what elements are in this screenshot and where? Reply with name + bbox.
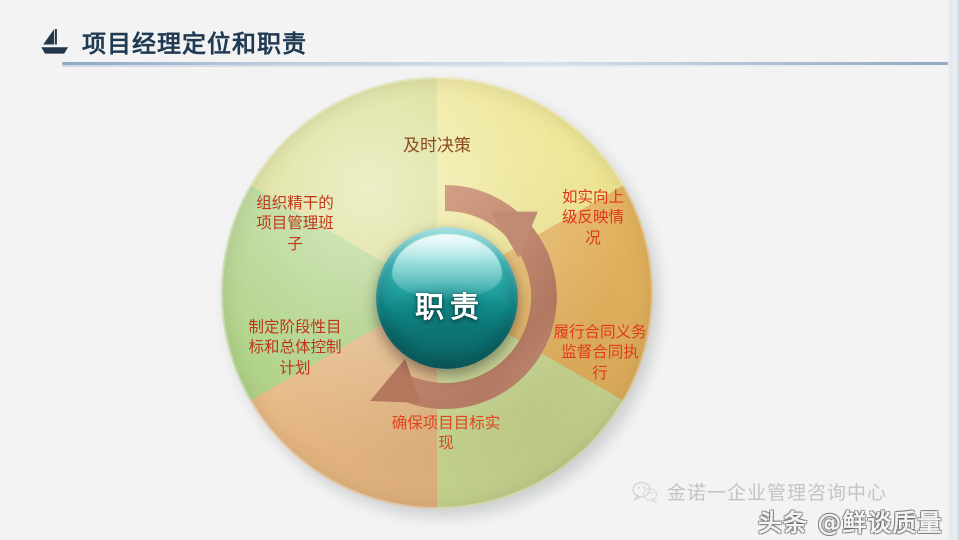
title-row: 项目经理定位和职责 (40, 24, 307, 59)
header-divider-soft (62, 65, 948, 67)
slide-header: 项目经理定位和职责 (0, 0, 960, 70)
brand-watermark: 金诺一企业管理咨询中心 (632, 478, 887, 505)
slide-edge-band (951, 0, 960, 540)
slide-canvas: 项目经理定位和职责 及时决策 如实向上 级反映情 况 履行合同义务 监督合同执 … (0, 0, 960, 540)
page-title: 项目经理定位和职责 (82, 24, 307, 59)
toutiao-watermark: 头条 @鲜谈质量 (758, 503, 942, 538)
center-sphere[interactable]: 职责 (376, 227, 518, 369)
sailboat-icon (40, 28, 70, 56)
wechat-icon (632, 481, 658, 503)
center-sphere-label: 职责 (376, 227, 518, 369)
brand-watermark-text: 金诺一企业管理咨询中心 (667, 478, 887, 505)
responsibility-wheel-diagram: 及时决策 如实向上 级反映情 况 履行合同义务 监督合同执 行 确保项目目标实 … (221, 77, 653, 509)
